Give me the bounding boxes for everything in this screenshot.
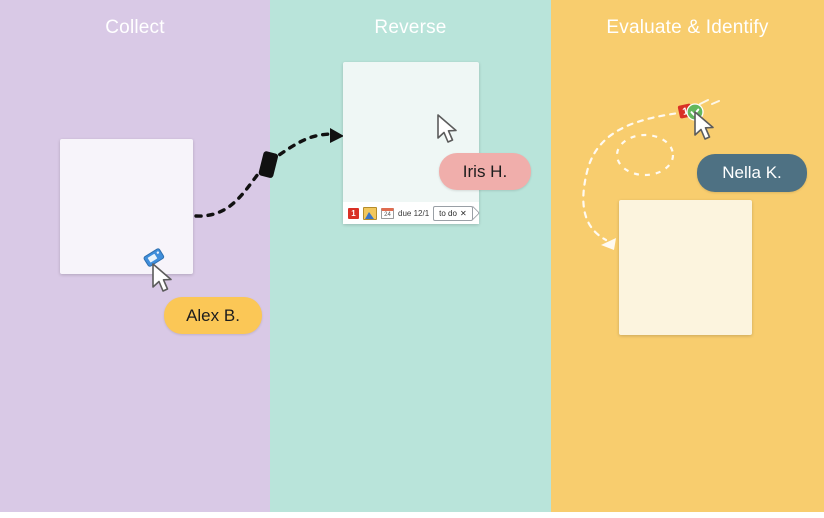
card-evaluate[interactable]: [619, 200, 752, 335]
column-title-reverse: Reverse: [270, 17, 551, 39]
collaborator-name-iris: Iris H.: [463, 162, 507, 182]
calendar-icon: 24: [381, 208, 394, 219]
badge-count: 1: [348, 208, 359, 219]
collaborator-pill-nella[interactable]: Nella K.: [697, 154, 807, 192]
collaborator-pill-iris[interactable]: Iris H.: [439, 153, 531, 190]
column-title-collect: Collect: [0, 17, 270, 39]
collaborator-name-alex: Alex B.: [186, 306, 240, 326]
status-chip-todo[interactable]: to do ✕: [433, 206, 473, 221]
collaborator-name-nella: Nella K.: [722, 163, 782, 183]
card-reverse-footer: 1 24 due 12/1 to do ✕: [343, 202, 479, 224]
kanban-board: Collect Reverse Evaluate & Identify 1 24…: [0, 0, 824, 518]
image-icon: [363, 207, 377, 220]
card-collect[interactable]: [60, 139, 193, 274]
column-title-evaluate: Evaluate & Identify: [551, 17, 824, 39]
status-chip-label: to do: [439, 209, 457, 218]
collaborator-pill-alex[interactable]: Alex B.: [164, 297, 262, 334]
cursor-nella: [692, 110, 718, 149]
close-icon[interactable]: ✕: [460, 209, 467, 218]
cursor-iris: [435, 113, 461, 152]
cursor-alex: [150, 262, 176, 301]
due-date-label: due 12/1: [398, 209, 429, 218]
